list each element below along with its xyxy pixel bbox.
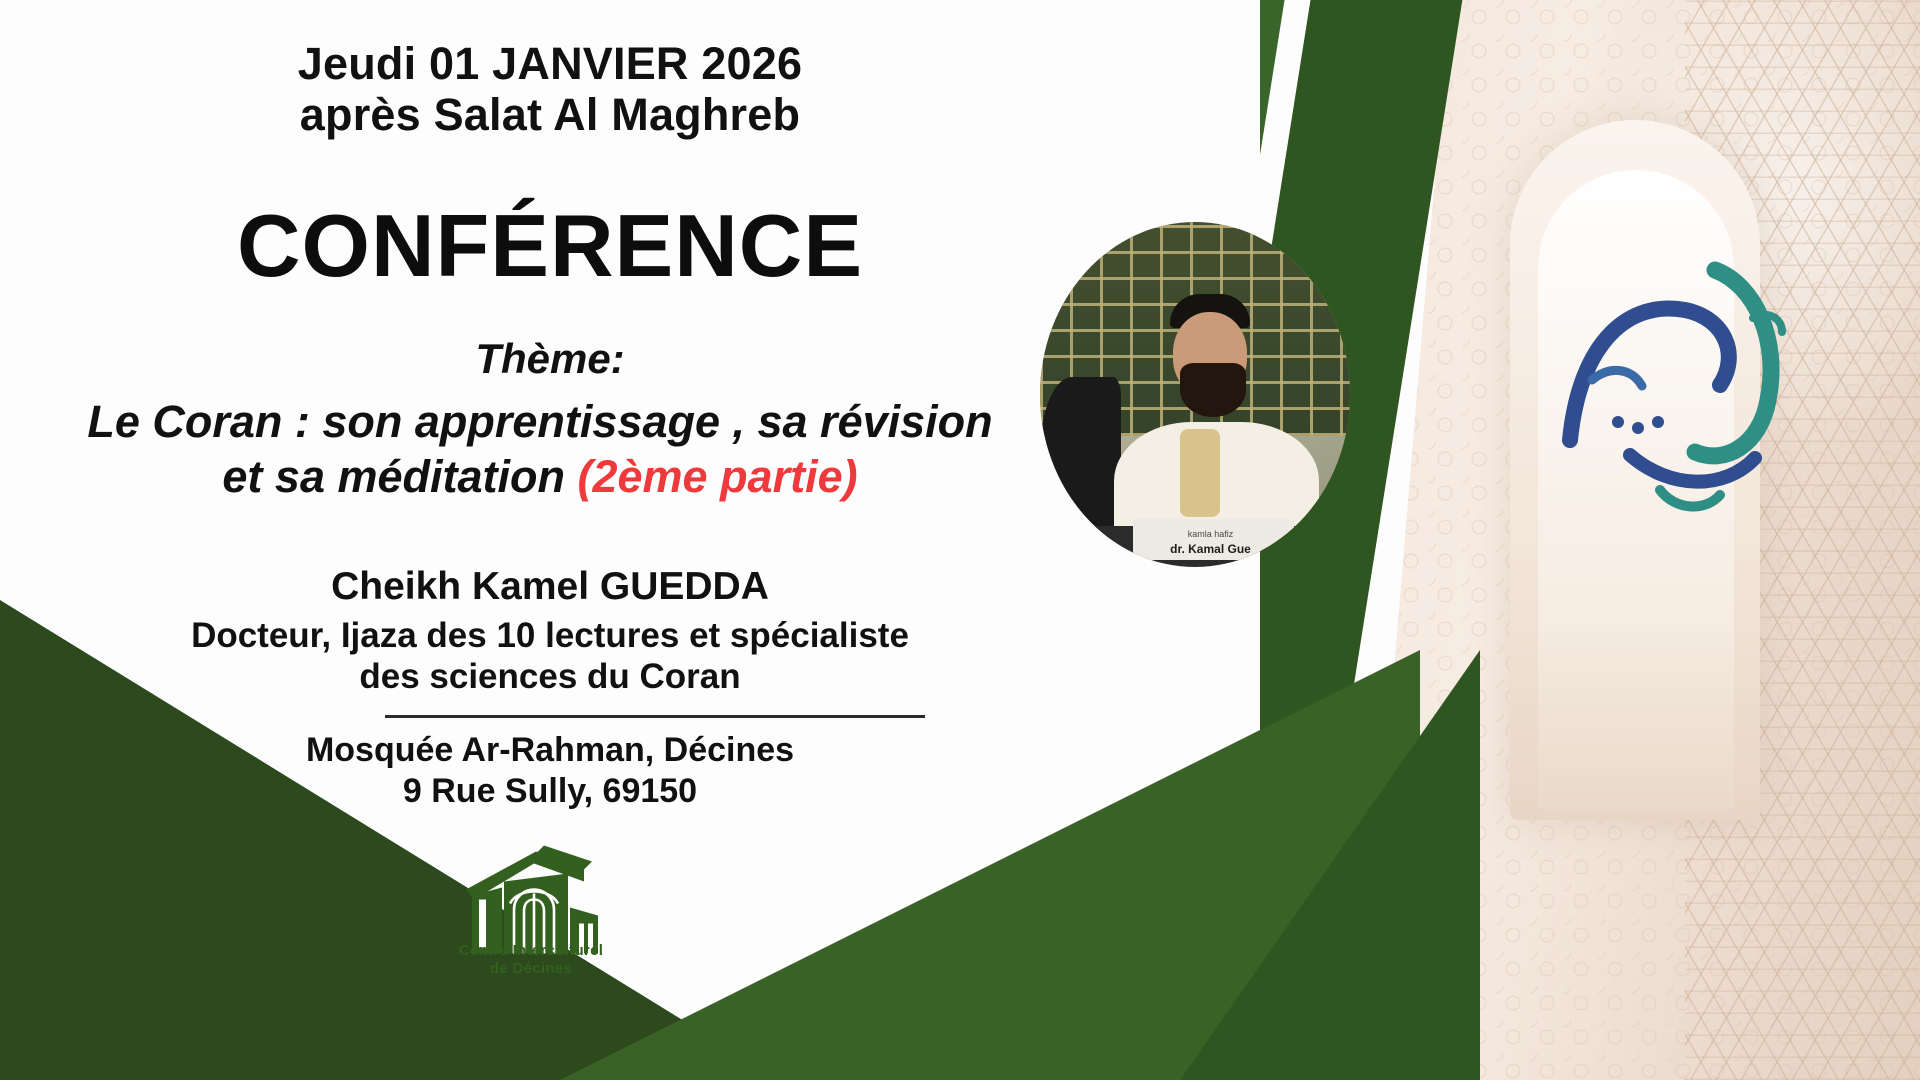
event-date-line2: après Salat Al Maghreb xyxy=(0,89,1100,140)
theme-part-badge: (2ème partie) xyxy=(577,451,857,502)
venue-block: Mosquée Ar-Rahman, Décines 9 Rue Sully, … xyxy=(0,730,1100,813)
theme-label: Thème: xyxy=(0,335,1100,383)
page-title: CONFÉRENCE xyxy=(0,195,1100,297)
event-date-block: Jeudi 01 JANVIER 2026 après Salat Al Mag… xyxy=(0,38,1100,141)
avatar-plaque-subtitle: kamla hafiz xyxy=(1139,529,1282,539)
divider xyxy=(385,715,925,718)
logo-text-line2: de Décines xyxy=(416,960,646,978)
conference-poster: Jeudi 01 JANVIER 2026 après Salat Al Mag… xyxy=(0,0,1920,1080)
venue-name: Mosquée Ar-Rahman, Décines xyxy=(0,730,1100,771)
avatar-collar-embroidery xyxy=(1180,429,1220,517)
speaker-avatar: kamla hafiz dr. Kamal Gue xyxy=(1040,222,1350,567)
venue-address: 9 Rue Sully, 69150 xyxy=(0,771,1100,812)
avatar-plaque-name: dr. Kamal Gue xyxy=(1139,542,1282,556)
arabic-calligraphy xyxy=(1510,190,1840,610)
theme-line2: et sa méditation (2ème partie) xyxy=(0,450,1080,505)
speaker-name: Cheikh Kamel GUEDDA xyxy=(0,565,1100,609)
avatar-beard xyxy=(1180,363,1246,417)
speaker-credentials: Docteur, Ijaza des 10 lectures et spécia… xyxy=(0,615,1100,698)
organization-logo: Centre Interculturel de Décines xyxy=(416,820,646,985)
theme-line2-main: et sa méditation xyxy=(222,451,577,502)
theme-line1: Le Coran : son apprentissage , sa révisi… xyxy=(0,395,1080,450)
theme-text: Le Coran : son apprentissage , sa révisi… xyxy=(0,395,1080,505)
speaker-credentials-line1: Docteur, Ijaza des 10 lectures et spécia… xyxy=(0,615,1100,656)
speaker-credentials-line2: des sciences du Coran xyxy=(0,656,1100,697)
event-date-line1: Jeudi 01 JANVIER 2026 xyxy=(0,38,1100,89)
logo-text: Centre Interculturel de Décines xyxy=(416,942,646,979)
logo-text-line1: Centre Interculturel xyxy=(416,942,646,960)
